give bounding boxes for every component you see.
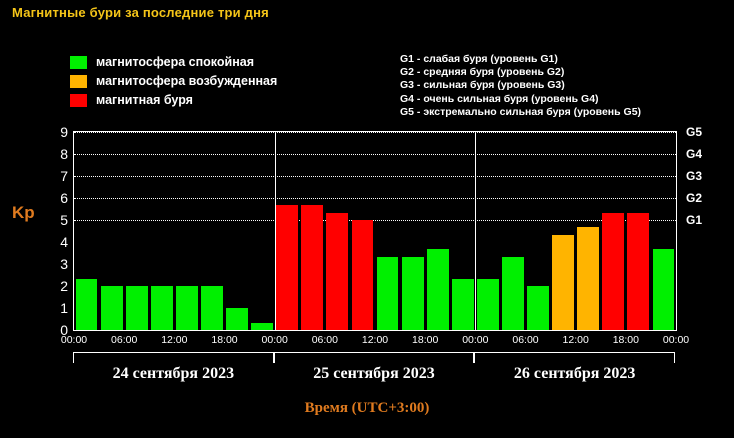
bar bbox=[653, 249, 675, 330]
legend-storm-levels: G1 - слабая буря (уровень G1)G2 - средня… bbox=[400, 53, 720, 119]
legend-swatch-quiet bbox=[70, 56, 87, 69]
y-axis-right-tick-label: G2 bbox=[686, 192, 702, 204]
y-axis-right-tick-label: G3 bbox=[686, 170, 702, 182]
y-axis-right: G1G2G3G4G5 bbox=[686, 131, 730, 331]
y-axis-right-tick-label: G1 bbox=[686, 214, 702, 226]
legend-item-label: магнитосфера спокойная bbox=[96, 55, 254, 69]
y-axis-tick-label: 2 bbox=[46, 279, 68, 293]
day-bracket bbox=[274, 352, 475, 363]
y-axis-tick-label: 5 bbox=[46, 213, 68, 227]
x-axis-tick-label: 12:00 bbox=[362, 334, 388, 346]
bar bbox=[176, 286, 198, 330]
bar bbox=[577, 227, 599, 330]
legend-magnetosphere: магнитосфера спокойнаямагнитосфера возбу… bbox=[70, 53, 360, 110]
x-axis-tick-label: 00:00 bbox=[61, 334, 87, 346]
day-separator bbox=[275, 132, 276, 330]
bar bbox=[552, 235, 574, 330]
day-label: 24 сентября 2023 bbox=[113, 365, 234, 383]
plot-area bbox=[73, 131, 677, 331]
storm-level-description: G4 - очень сильная буря (уровень G4) bbox=[400, 93, 720, 106]
page-title: Магнитные бури за последние три дня bbox=[12, 5, 269, 20]
plot-inner bbox=[74, 132, 676, 330]
day-brackets bbox=[73, 352, 677, 364]
x-axis-tick-label: 06:00 bbox=[312, 334, 338, 346]
bar bbox=[101, 286, 123, 330]
bar bbox=[427, 249, 449, 330]
bar bbox=[602, 213, 624, 330]
day-bracket bbox=[474, 352, 675, 363]
bar bbox=[226, 308, 248, 330]
legend-item-label: магнитная буря bbox=[96, 93, 193, 107]
x-axis-tick-label: 06:00 bbox=[512, 334, 538, 346]
x-axis-tick-label: 00:00 bbox=[663, 334, 689, 346]
bar bbox=[477, 279, 499, 330]
bar bbox=[76, 279, 98, 330]
storm-level-description: G1 - слабая буря (уровень G1) bbox=[400, 53, 720, 66]
x-axis-tick-label: 18:00 bbox=[211, 334, 237, 346]
y-axis-title: Kp bbox=[12, 203, 35, 223]
bar bbox=[126, 286, 148, 330]
gridline bbox=[74, 220, 676, 221]
bar bbox=[326, 213, 348, 330]
y-axis-tick-label: 9 bbox=[46, 125, 68, 139]
bar bbox=[402, 257, 424, 330]
storm-level-description: G3 - сильная буря (уровень G3) bbox=[400, 79, 720, 92]
magnetic-storm-chart: Магнитные бури за последние три дня магн… bbox=[0, 0, 734, 438]
bar bbox=[377, 257, 399, 330]
x-axis-tick-label: 12:00 bbox=[563, 334, 589, 346]
y-axis-left: 0123456789 bbox=[40, 131, 68, 331]
bar bbox=[251, 323, 273, 330]
gridline bbox=[74, 198, 676, 199]
legend-swatch-storm bbox=[70, 94, 87, 107]
x-axis-tick-labels: 00:0006:0012:0018:0000:0006:0012:0018:00… bbox=[73, 334, 677, 350]
legend-item: магнитная буря bbox=[70, 91, 360, 109]
x-axis-title: Время (UTC+3:00) bbox=[0, 400, 734, 417]
day-label: 26 сентября 2023 bbox=[514, 365, 635, 383]
y-axis-tick-label: 6 bbox=[46, 191, 68, 205]
storm-level-description: G2 - средняя буря (уровень G2) bbox=[400, 66, 720, 79]
bar bbox=[527, 286, 549, 330]
bar bbox=[276, 205, 298, 330]
legend-swatch-unsettled bbox=[70, 75, 87, 88]
bar bbox=[301, 205, 323, 330]
x-axis-tick-label: 18:00 bbox=[613, 334, 639, 346]
bar bbox=[502, 257, 524, 330]
bar bbox=[627, 213, 649, 330]
day-separator bbox=[475, 132, 476, 330]
bar bbox=[201, 286, 223, 330]
y-axis-tick-label: 4 bbox=[46, 235, 68, 249]
y-axis-tick-label: 8 bbox=[46, 147, 68, 161]
day-label: 25 сентября 2023 bbox=[313, 365, 434, 383]
legend-item: магнитосфера спокойная bbox=[70, 53, 360, 71]
legend-item: магнитосфера возбужденная bbox=[70, 72, 360, 90]
y-axis-right-tick-label: G5 bbox=[686, 126, 702, 138]
x-axis-tick-label: 06:00 bbox=[111, 334, 137, 346]
day-bracket bbox=[73, 352, 274, 363]
legend-item-label: магнитосфера возбужденная bbox=[96, 74, 277, 88]
gridline bbox=[74, 132, 676, 133]
storm-level-description: G5 - экстремально сильная буря (уровень … bbox=[400, 106, 720, 119]
day-labels: 24 сентября 202325 сентября 202326 сентя… bbox=[73, 365, 677, 387]
gridline bbox=[74, 176, 676, 177]
y-axis-right-tick-label: G4 bbox=[686, 148, 702, 160]
y-axis-tick-label: 3 bbox=[46, 257, 68, 271]
bar bbox=[452, 279, 474, 330]
gridline bbox=[74, 154, 676, 155]
y-axis-tick-label: 7 bbox=[46, 169, 68, 183]
bar bbox=[151, 286, 173, 330]
x-axis-tick-label: 12:00 bbox=[161, 334, 187, 346]
y-axis-tick-label: 1 bbox=[46, 301, 68, 315]
bar bbox=[352, 220, 374, 330]
x-axis-tick-label: 00:00 bbox=[262, 334, 288, 346]
x-axis-tick-label: 00:00 bbox=[462, 334, 488, 346]
x-axis-tick-label: 18:00 bbox=[412, 334, 438, 346]
